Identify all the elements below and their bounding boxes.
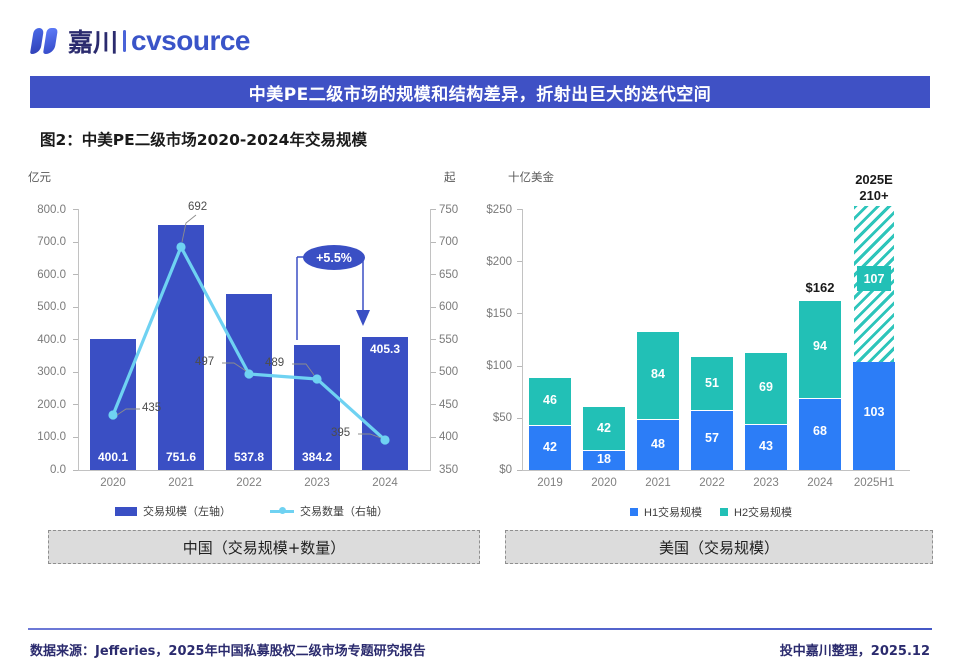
growth-badge: +5.5% bbox=[303, 245, 365, 270]
bar-2020-h2-value: 42 bbox=[583, 421, 625, 435]
legend-china-bar[interactable]: 交易规模（左轴） bbox=[115, 503, 231, 519]
forecast-label-2025e-line2: 210+ bbox=[843, 188, 905, 203]
xtick-2020: 2020 bbox=[86, 477, 140, 489]
usd-tick-0: $0 bbox=[470, 464, 512, 476]
xtick-2022: 2022 bbox=[222, 477, 276, 489]
slide-title: 中美PE二级市场的规模和结构差异，折射出巨大的迭代空间 bbox=[249, 80, 712, 105]
legend-label-h1: H1交易规模 bbox=[644, 504, 702, 520]
legend-swatch-deal-count-icon bbox=[270, 506, 294, 516]
bar-2019-h2-value: 46 bbox=[529, 393, 571, 407]
usd-tick-50: $50 bbox=[470, 412, 512, 424]
usd-xtick-2019: 2019 bbox=[524, 477, 576, 489]
legend-swatch-h2-icon bbox=[720, 508, 728, 516]
xtick-2021: 2021 bbox=[154, 477, 208, 489]
usd-y-axis bbox=[522, 209, 523, 471]
bar-2024-h2-value: 94 bbox=[799, 339, 841, 353]
usd-xtick-2021: 2021 bbox=[632, 477, 684, 489]
usd-x-axis bbox=[522, 470, 910, 471]
bar-2025h1-h2-value: 107 bbox=[857, 266, 891, 291]
caption-usa: 美国（交易规模） bbox=[659, 537, 779, 558]
legend-label-deal-size: 交易规模（左轴） bbox=[143, 503, 231, 519]
caption-box-usa: 美国（交易规模） bbox=[505, 530, 933, 564]
cvsource-logo-mark-icon bbox=[30, 24, 64, 58]
bar-2021-h1-value: 48 bbox=[637, 437, 679, 451]
slide-page: 嘉川 cvsource 中美PE二级市场的规模和结构差异，折射出巨大的迭代空间 … bbox=[0, 0, 960, 669]
legend-swatch-h1-icon bbox=[630, 508, 638, 516]
caption-china: 中国（交易规模+数量） bbox=[183, 537, 346, 558]
bar-2021-h2-value: 84 bbox=[637, 367, 679, 381]
bar-2025h1-h1-value: 103 bbox=[853, 405, 895, 419]
brand-logo: 嘉川 cvsource bbox=[30, 20, 250, 62]
legend-china-line[interactable]: 交易数量（右轴） bbox=[270, 503, 388, 519]
brand-name-en: cvsource bbox=[131, 25, 250, 57]
bar-2023-h2-value: 69 bbox=[745, 380, 787, 394]
xtick-2023: 2023 bbox=[290, 477, 344, 489]
bar-2019-h1-value: 42 bbox=[529, 440, 571, 454]
bar-2022-h1-value: 57 bbox=[691, 431, 733, 445]
usd-tick-150: $150 bbox=[470, 308, 512, 320]
forecast-label-2025e-line1: 2025E bbox=[843, 172, 905, 187]
bar-2020-h1-value: 18 bbox=[583, 452, 625, 466]
legend-swatch-deal-size-icon bbox=[115, 507, 137, 516]
logo-divider bbox=[123, 30, 126, 52]
usd-xtick-2022: 2022 bbox=[686, 477, 738, 489]
usd-xtick-2023: 2023 bbox=[740, 477, 792, 489]
usd-xtick-2020: 2020 bbox=[578, 477, 630, 489]
usd-xtick-2025h1: 2025H1 bbox=[844, 477, 904, 489]
footer-credit: 投中嘉川整理，2025.12 bbox=[780, 640, 930, 659]
usd-tick-100: $100 bbox=[470, 360, 512, 372]
usd-tick-250: $250 bbox=[470, 204, 512, 216]
caption-box-china: 中国（交易规模+数量） bbox=[48, 530, 480, 564]
bar-2022-h2-value: 51 bbox=[691, 376, 733, 390]
brand-name-cn: 嘉川 bbox=[68, 23, 118, 59]
right-chart-ylabel: 十亿美金 bbox=[508, 169, 554, 185]
bar-2024-h1-value: 68 bbox=[799, 424, 841, 438]
xtick-2024: 2024 bbox=[358, 477, 412, 489]
footer-source: 数据来源：Jefferies，2025年中国私募股权二级市场专题研究报告 bbox=[30, 640, 426, 659]
footer-divider bbox=[28, 628, 932, 630]
chart-china: 亿元 起 0.0 100.0 200.0 300.0 400.0 500.0 6… bbox=[20, 165, 460, 500]
usd-xtick-2024: 2024 bbox=[794, 477, 846, 489]
bar-2023-h1-value: 43 bbox=[745, 439, 787, 453]
legend-label-deal-count: 交易数量（右轴） bbox=[300, 503, 388, 519]
slide-title-band: 中美PE二级市场的规模和结构差异，折射出巨大的迭代空间 bbox=[30, 76, 930, 108]
chart-usa: 十亿美金 $0 $50 $100 $150 $200 $250 42 46 18… bbox=[470, 165, 940, 500]
legend-label-h2: H2交易规模 bbox=[734, 504, 792, 520]
legend-usa-h2[interactable]: H2交易规模 bbox=[720, 504, 792, 520]
legend-usa-h1[interactable]: H1交易规模 bbox=[630, 504, 702, 520]
growth-callout-bracket bbox=[20, 165, 460, 500]
figure-caption: 图2：中美PE二级市场2020-2024年交易规模 bbox=[40, 128, 367, 150]
total-label-2024: $162 bbox=[794, 280, 846, 295]
usd-tick-200: $200 bbox=[470, 256, 512, 268]
